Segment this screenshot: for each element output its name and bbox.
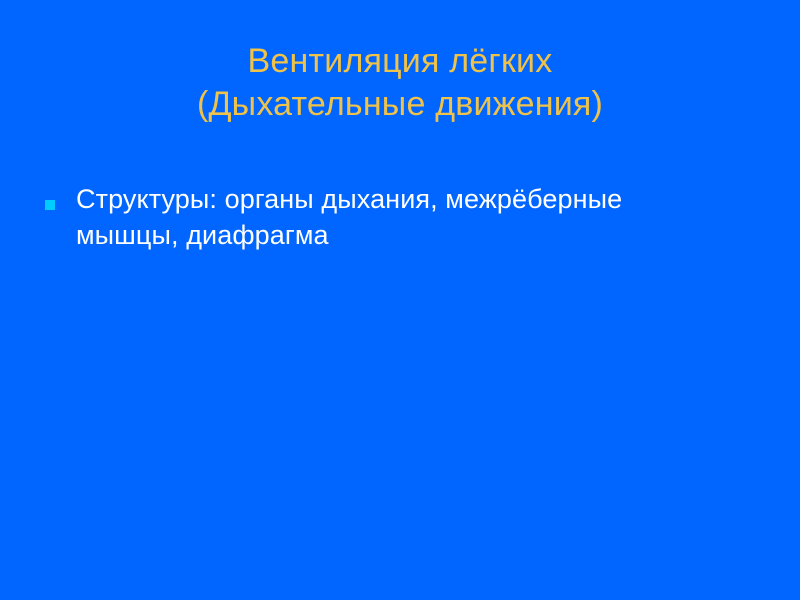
slide-title: Вентиляция лёгких (Дыхательные движения) — [0, 40, 800, 126]
slide-title-line-2: (Дыхательные движения) — [30, 83, 770, 126]
presentation-slide: Вентиляция лёгких (Дыхательные движения)… — [0, 0, 800, 600]
slide-title-line-1: Вентиляция лёгких — [30, 40, 770, 83]
square-bullet-icon — [45, 200, 55, 210]
list-item-label: Структуры: органы дыхания, межрёберные м… — [76, 181, 666, 253]
slide-body: Структуры: органы дыхания, межрёберные м… — [34, 181, 734, 253]
list-item: Структуры: органы дыхания, межрёберные м… — [34, 181, 734, 253]
